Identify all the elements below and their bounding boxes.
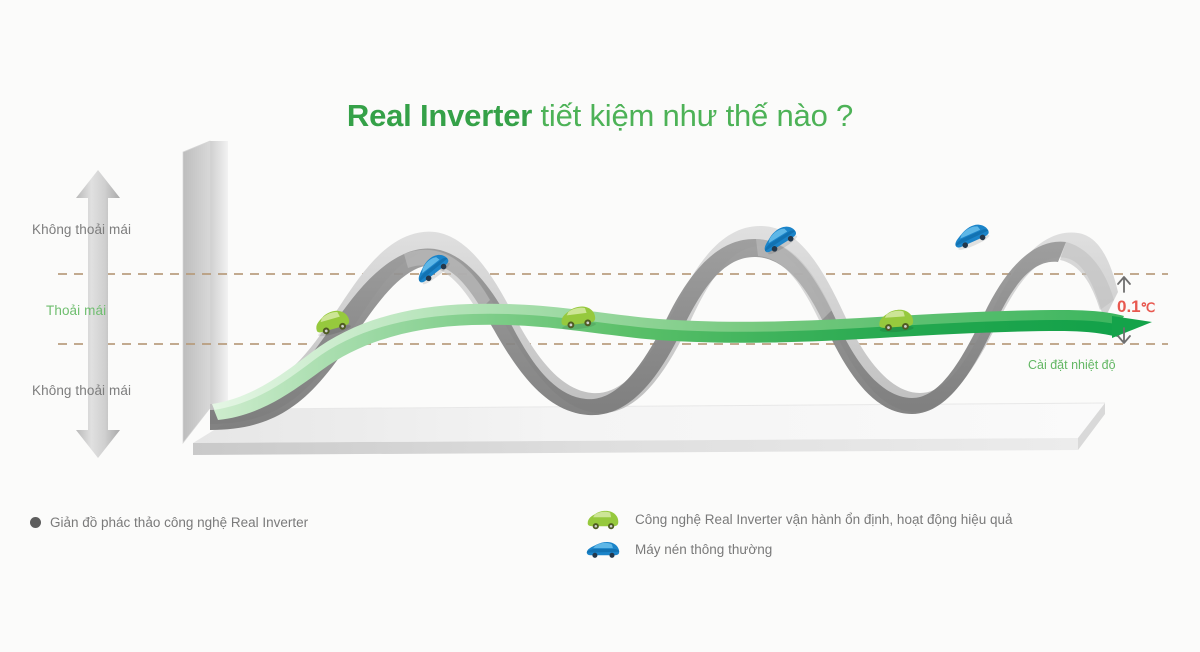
setpoint-label: Cài đặt nhiệt độ [1028,358,1116,372]
axis-label-uncomfortable-bottom: Không thoải mái [32,383,131,398]
tolerance-number: 0.1 [1117,297,1141,316]
legend-item-conventional: Máy nén thông thường [585,538,1013,560]
green-car-icon [585,508,621,530]
legend-diagram-note: Giản đồ phác thảo công nghệ Real Inverte… [30,515,308,530]
chart-vertical-wall [183,141,228,443]
tolerance-unit: ℃ [1141,300,1156,315]
chart-floor-plane [193,403,1105,455]
legend-item-real-inverter: Công nghệ Real Inverter vận hành ổn định… [585,508,1013,530]
blue-car-icon [951,221,992,253]
axis-label-uncomfortable-top: Không thoải mái [32,222,131,237]
axis-label-comfortable: Thoải mái [46,303,106,318]
legend-series: Công nghệ Real Inverter vận hành ổn định… [585,508,1013,560]
green-car-icon [878,309,913,333]
legend-item-real-inverter-label: Công nghệ Real Inverter vận hành ổn định… [635,512,1013,527]
tolerance-value: 0.1℃ [1117,297,1155,317]
infographic-page: Real Inverter tiết kiệm như thế nào ? [0,0,1200,652]
legend-diagram-note-label: Giản đồ phác thảo công nghệ Real Inverte… [50,515,308,530]
gray-dot-icon [30,517,41,528]
legend-item-conventional-label: Máy nén thông thường [635,542,772,557]
blue-car-icon [585,538,621,560]
